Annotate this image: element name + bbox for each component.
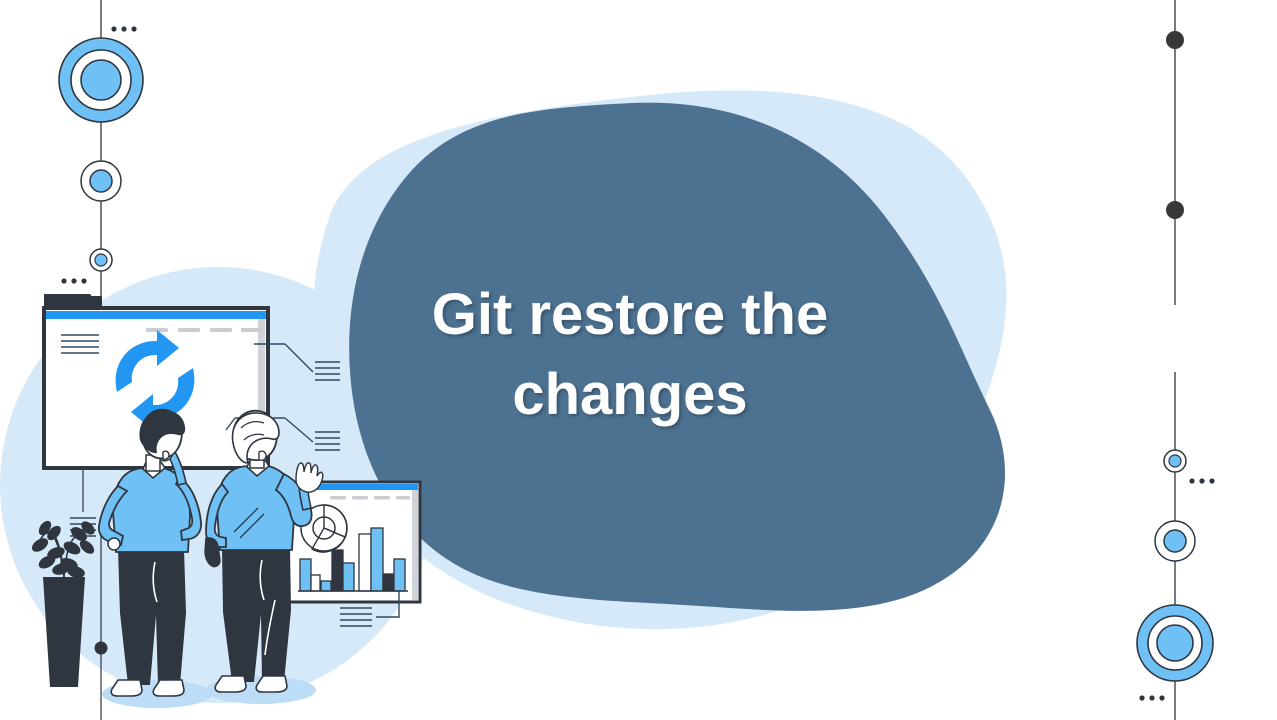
left-small-ring-icon xyxy=(90,249,112,271)
right-filled-dot-upper-icon xyxy=(1166,31,1184,49)
person-right-ear xyxy=(259,451,266,460)
person-left-hand-hip xyxy=(108,538,120,550)
guide-dot-plant-icon xyxy=(95,642,108,655)
page-title: Git restore the changes xyxy=(380,275,880,435)
left-medium-ring-icon xyxy=(81,161,121,201)
left-dots-top-icon xyxy=(111,26,136,31)
person-left-shoe-a xyxy=(111,680,142,696)
right-dots-upper-icon xyxy=(1189,478,1214,483)
slide-canvas: Git restore the changes xyxy=(0,0,1277,720)
plant-pot xyxy=(43,577,85,687)
left-dots-bottom-icon xyxy=(61,278,86,283)
chart-window-shadow-strip xyxy=(412,490,418,600)
right-filled-dot-lower-icon xyxy=(1166,201,1184,219)
right-dots-lower-icon xyxy=(1139,695,1164,700)
person-right-shoe-b xyxy=(256,676,287,692)
title-block: Git restore the changes xyxy=(380,265,880,445)
person-left-shoe-b xyxy=(153,680,184,696)
left-large-ring-icon xyxy=(59,38,143,122)
right-decor-rail-top xyxy=(1166,0,1184,305)
right-decor-rail-bottom xyxy=(1137,372,1215,720)
right-large-ring-icon xyxy=(1137,605,1213,681)
left-decor-rail xyxy=(59,0,143,300)
window-titlebar xyxy=(46,311,266,319)
person-right-shoe-a xyxy=(215,676,246,692)
right-small-ring-icon xyxy=(1164,450,1186,472)
right-medium-ring-icon xyxy=(1155,521,1195,561)
person-left-ear xyxy=(163,451,169,459)
